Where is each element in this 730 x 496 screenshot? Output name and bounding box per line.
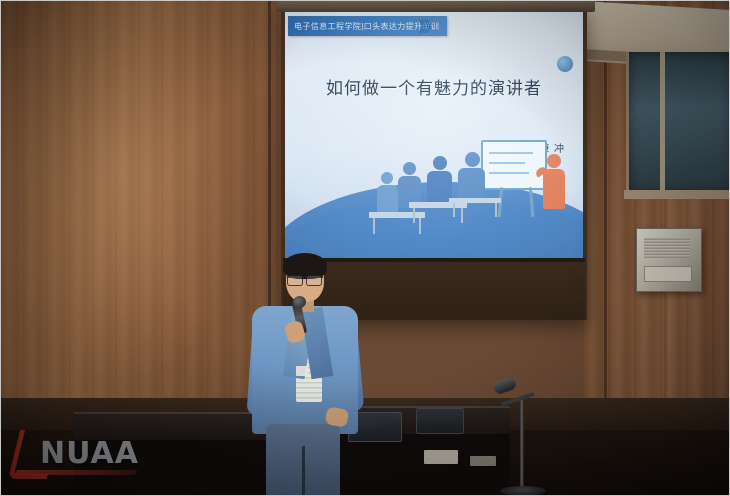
university-emblem-icon: [557, 56, 573, 72]
illustration-presenter-head: [547, 154, 561, 168]
window-sill: [624, 190, 730, 199]
presenter-trousers-seam: [302, 446, 305, 496]
illustration-desk-leg: [419, 218, 421, 234]
whiteboard-line: [489, 162, 525, 164]
illustration-presenter-body: [543, 169, 565, 209]
wall-speaker-label: [644, 266, 692, 282]
wall-speaker-grill: [644, 238, 690, 258]
whiteboard-icon: [481, 140, 547, 190]
whiteboard-line: [489, 172, 529, 174]
microphone-stand-pole: [520, 396, 524, 496]
projection-screen: 电子信息工程学院|口头表达力提升培训 》》 如何做一个有魅力的演讲者 —— 康 …: [285, 12, 583, 262]
illustration-audience-head: [381, 172, 393, 184]
presenter-badge: [296, 366, 308, 376]
photograph: 电子信息工程学院|口头表达力提升培训 》》 如何做一个有魅力的演讲者 —— 康 …: [0, 0, 730, 496]
microphone-stand-base: [500, 486, 546, 496]
illustration-desk: [369, 212, 425, 218]
window: [626, 52, 730, 194]
illustration-desk-leg: [461, 208, 463, 223]
slide-banner-arrows-icon: 》》: [419, 17, 436, 37]
laptop: [416, 408, 464, 434]
illustration-desk-leg: [453, 203, 455, 217]
illustration-desk-leg: [495, 203, 497, 217]
eyeglasses-lens-right: [306, 275, 322, 286]
whiteboard-line: [489, 152, 533, 154]
illustration-desk-leg: [413, 208, 415, 223]
watermark-underline: [15, 470, 137, 475]
illustration-audience-head: [403, 162, 416, 175]
window-mullion: [660, 52, 665, 194]
illustration-desk-leg: [373, 218, 375, 234]
microphone-icon: [493, 377, 518, 396]
paper-sheet: [470, 456, 496, 466]
projection-screen-roller: [277, 0, 595, 12]
eyeglasses-lens-left: [287, 275, 303, 286]
illustration-desk: [449, 198, 501, 203]
slide-title: 如何做一个有魅力的演讲者: [285, 74, 583, 99]
nuaa-watermark: NUAA: [14, 424, 146, 482]
illustration-audience-head: [465, 152, 480, 167]
whiteboard-legs: [498, 187, 535, 217]
illustration-audience-body: [377, 185, 398, 213]
illustration-audience-head: [433, 156, 447, 170]
paper-sheet: [424, 450, 458, 464]
watermark-text: NUAA: [40, 436, 139, 471]
